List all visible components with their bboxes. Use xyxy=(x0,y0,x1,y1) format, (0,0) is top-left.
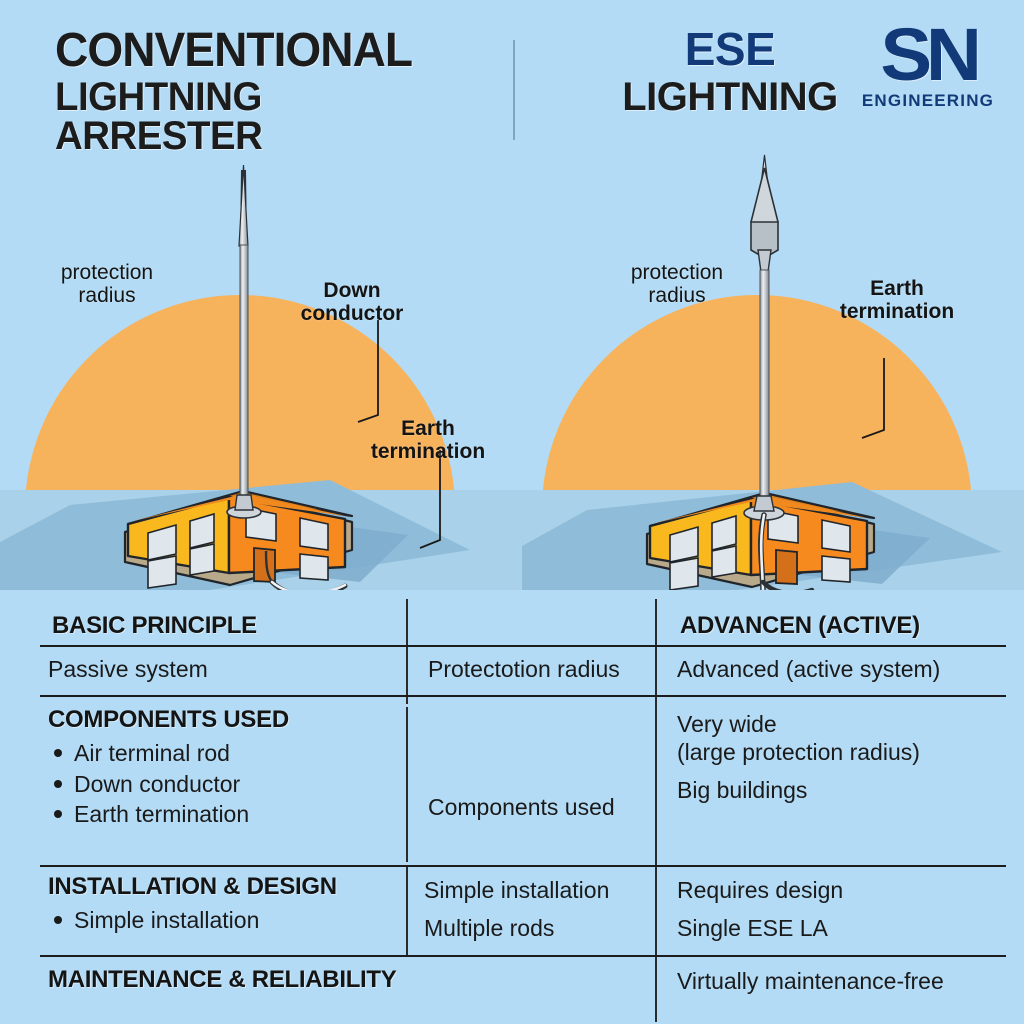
column-divider-right-2 xyxy=(655,867,657,1022)
page-title-right: ESE LIGHTNING xyxy=(620,27,840,117)
column-divider-left-2 xyxy=(406,707,408,862)
section-heading-maintenance-reliability: MAINTENANCE & RELIABILITY xyxy=(48,966,397,994)
list-item: Simple installation xyxy=(48,905,388,936)
cell-right-advanced-active-system: Advanced (active system) xyxy=(677,655,940,683)
ese-diagram-svg xyxy=(512,150,1024,590)
label-earth-termination-left: Earth termination xyxy=(348,418,508,463)
title-left-line2: LIGHTNING ARRESTER xyxy=(55,78,468,156)
cell-left-components-used: COMPONENTS USED Air terminal rod Down co… xyxy=(48,706,388,830)
row-divider-2 xyxy=(40,695,1006,697)
row-divider-1 xyxy=(40,645,1006,647)
column-divider-left-3 xyxy=(406,867,408,955)
list-item: Earth termination xyxy=(48,799,388,830)
row-divider-4 xyxy=(40,955,1006,957)
section-heading-basic-principle: BASIC PRINCIPLE xyxy=(52,612,257,640)
column-divider-right-1 xyxy=(655,599,657,867)
cell-middle-line-simple-installation: Simple installation xyxy=(424,876,654,904)
cell-right-line-requires-design: Requires design xyxy=(677,876,1007,904)
installation-bullet-list: Simple installation xyxy=(48,905,388,936)
illustration-conventional: protection radius Down conductor Earth t… xyxy=(0,150,512,590)
illustration-ese: protection radius Earth termination xyxy=(512,150,1024,590)
cell-middle-installation: Simple installation Multiple rods xyxy=(424,876,654,942)
page-title-left: CONVENTIONAL LIGHTNING ARRESTER xyxy=(55,27,485,156)
cell-right-installation: Requires design Single ESE LA xyxy=(677,876,1007,942)
label-protection-radius-right: protection radius xyxy=(602,262,752,307)
components-used-bullet-list: Air terminal rod Down conductor Earth te… xyxy=(48,738,388,830)
cell-right-line-very-wide: Very wide xyxy=(677,710,1007,738)
section-heading-installation-design: INSTALLATION & DESIGN xyxy=(48,873,388,901)
cell-right-components-used: Very wide (large protection radius) Big … xyxy=(677,710,1007,804)
label-down-conductor: Down conductor xyxy=(272,280,432,325)
cell-right-virtually-maintenance-free: Virtually maintenance-free xyxy=(677,967,944,995)
column-divider-left-1 xyxy=(406,599,408,704)
title-divider xyxy=(513,40,515,140)
cell-middle-line-multiple-rods: Multiple rods xyxy=(424,914,654,942)
list-item: Down conductor xyxy=(48,769,388,800)
list-item: Air terminal rod xyxy=(48,738,388,769)
cell-right-line-single-ese-la: Single ESE LA xyxy=(677,914,1007,942)
comparison-table: BASIC PRINCIPLE ADVANCEN (ACTIVE) Passiv… xyxy=(0,595,1024,1024)
row-divider-3 xyxy=(40,865,1006,867)
cell-left-installation-design: INSTALLATION & DESIGN Simple installatio… xyxy=(48,873,388,936)
cell-middle-components-used: Components used xyxy=(428,793,615,821)
title-right-line2: LIGHTNING xyxy=(620,78,840,117)
cell-right-line-large-protection-radius: (large protection radius) xyxy=(677,738,1007,766)
conventional-diagram-svg xyxy=(0,150,512,590)
cell-left-passive-system: Passive system xyxy=(48,655,208,683)
title-right-line1: ESE xyxy=(620,27,840,72)
section-heading-advanced-active: ADVANCEN (ACTIVE) xyxy=(680,612,920,640)
cell-right-line-big-buildings: Big buildings xyxy=(677,776,1007,804)
cell-middle-protection-radius: Protectotion radius xyxy=(428,655,620,683)
label-protection-radius-left: protection radius xyxy=(32,262,182,307)
logo-mark-text: SN xyxy=(844,22,1012,89)
title-left-line1: CONVENTIONAL xyxy=(55,27,468,74)
section-heading-components-used: COMPONENTS USED xyxy=(48,706,388,734)
sn-engineering-logo: SN ENGINEERING xyxy=(848,22,1008,111)
label-earth-termination-right: Earth termination xyxy=(812,278,982,323)
header: CONVENTIONAL LIGHTNING ARRESTER ESE LIGH… xyxy=(0,0,1024,155)
